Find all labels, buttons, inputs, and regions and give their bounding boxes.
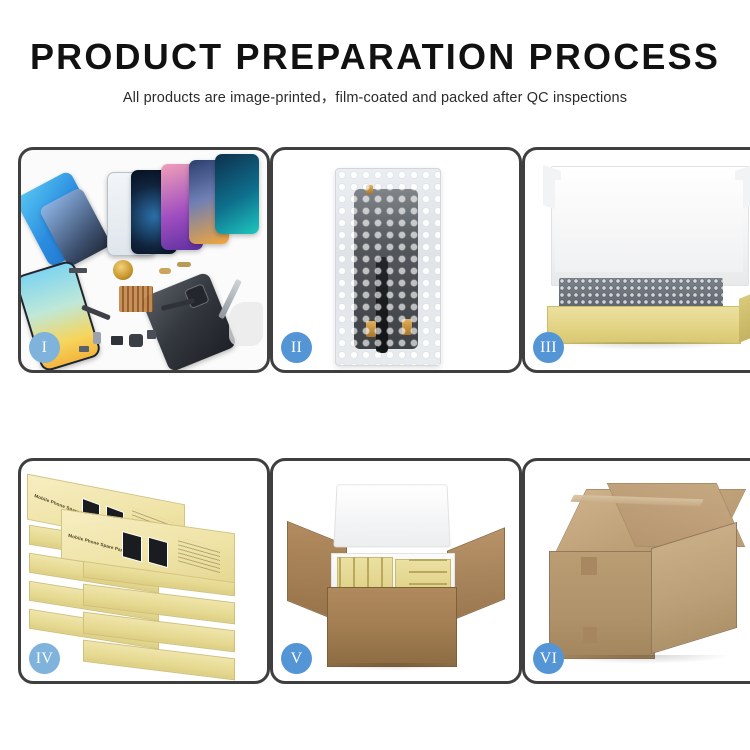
part-camera-icon <box>129 334 143 347</box>
part-screw-icon <box>79 346 89 352</box>
process-step-3[interactable]: III <box>522 147 750 373</box>
box-divider-6 <box>409 571 447 573</box>
box-phone-image-4 <box>148 537 168 569</box>
page-subtitle: All products are image-printed，film-coat… <box>0 86 750 107</box>
speaker-coil-icon <box>113 260 133 280</box>
phone-teal-display-icon <box>215 154 259 234</box>
carton-shadow <box>325 663 457 671</box>
box-label-front: Mobile Phone Spare Parts <box>68 533 127 554</box>
step-badge-6: VI <box>533 643 564 674</box>
box-divider-7 <box>409 583 447 585</box>
phone-back-housing-icon <box>141 271 238 370</box>
box-shadow <box>553 342 739 350</box>
part-chip-icon <box>69 268 87 273</box>
process-step-4[interactable]: Mobile Phone Spare Parts Mobile Phone Sp… <box>18 458 270 684</box>
yellow-box-side-icon <box>739 293 750 343</box>
box-phone-image-3 <box>122 531 142 563</box>
header: PRODUCT PREPARATION PROCESS All products… <box>0 0 750 107</box>
box-divider-5 <box>409 559 447 561</box>
bubble-wrap-bag-icon <box>335 168 441 366</box>
product-preparation-infographic: PRODUCT PREPARATION PROCESS All products… <box>0 0 750 750</box>
part-ic-icon <box>111 336 123 345</box>
step-4-illustration: Mobile Phone Spare Parts Mobile Phone Sp… <box>21 461 267 681</box>
process-step-5[interactable]: V <box>270 458 522 684</box>
carton-front-face-icon <box>549 551 655 659</box>
step-1-illustration <box>21 150 267 370</box>
step-2-illustration <box>273 150 519 370</box>
step-badge-4: IV <box>29 643 60 674</box>
foam-sheet-icon <box>555 180 743 272</box>
step-badge-1: I <box>29 332 60 363</box>
process-step-1[interactable]: I <box>18 147 270 373</box>
process-step-6[interactable]: VI <box>522 458 750 684</box>
step-badge-3: III <box>533 332 564 363</box>
yellow-box-front-icon <box>547 306 741 344</box>
process-step-2[interactable]: II <box>270 147 522 373</box>
carton-seal-top-icon <box>581 557 597 575</box>
step-5-illustration <box>273 461 519 681</box>
page-title: PRODUCT PREPARATION PROCESS <box>0 38 750 76</box>
step-badge-2: II <box>281 332 312 363</box>
process-step-grid: I II <box>18 147 734 684</box>
bubble-texture-overlay <box>336 169 440 365</box>
chip-array-icon <box>119 286 153 312</box>
part-sim-tray-icon <box>93 332 101 344</box>
hand-icon <box>229 302 263 346</box>
foam-lid-open-icon <box>333 484 450 547</box>
part-bracket-icon <box>177 262 191 267</box>
carton-shadow-6 <box>551 655 731 664</box>
carton-seal-bottom-icon <box>583 627 597 643</box>
carton-body-icon <box>327 587 457 667</box>
part-connector-icon <box>159 268 171 274</box>
step-badge-5: V <box>281 643 312 674</box>
part-button-icon <box>147 330 156 339</box>
box-spec-lines-front <box>178 537 220 573</box>
